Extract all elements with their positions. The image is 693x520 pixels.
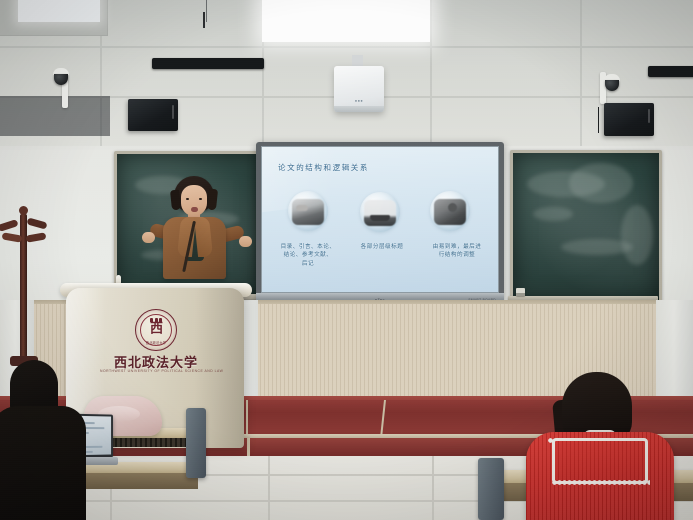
track-light-wire-left (206, 0, 207, 22)
student-right-red-sweater (506, 372, 676, 520)
student-right-lace-yoke (552, 438, 648, 484)
slide-screen: 论文的结构和逻辑关系 目录、引言、本论、 结论、参考文献、 后记 各部分层级标题… (261, 146, 499, 293)
slide-caption-1: 目录、引言、本论、 结论、参考文献、 后记 (272, 243, 344, 268)
ac-unit-center: ●●● (334, 66, 384, 112)
chalkboard-eraser[interactable] (516, 288, 525, 296)
slide-caption-3: 由易到难，最后进 行结构的调整 (418, 243, 496, 260)
presenter-hand-left (142, 232, 155, 243)
crest-mark: 西 (150, 323, 162, 336)
smart-display[interactable]: 论文的结构和逻辑关系 目录、引言、本论、 结论、参考文献、 后记 各部分层级标题… (256, 142, 504, 310)
presenter-speaker (142, 176, 250, 298)
chair-right[interactable] (478, 458, 504, 520)
track-light-stem-left (203, 12, 205, 28)
student-left-laptop (0, 360, 82, 520)
classroom-photo: ●●● 论文的结构和逻辑关系 (0, 0, 693, 520)
ceiling-light-left (18, 0, 100, 22)
ac-unit-brand: ●●● (355, 98, 363, 103)
university-crest-icon: 西 西北政法大学 (135, 309, 177, 351)
speaker-left (128, 99, 178, 131)
student-right-lace-trim-bottom (552, 480, 650, 485)
presenter-coat (163, 217, 226, 279)
coat-stand (2, 196, 46, 380)
slide-bubbles (262, 191, 498, 237)
student-right-lace-trim-left (548, 438, 553, 484)
presenter-hand-right (239, 236, 252, 247)
ceiling-light-right (262, 0, 430, 42)
presenter-face (181, 185, 207, 216)
chalkboard-right (510, 150, 662, 304)
track-light-left (152, 58, 264, 69)
chair-left-back[interactable] (186, 408, 206, 478)
photo-bubble-2 (360, 192, 400, 232)
photo-bubble-1 (288, 191, 328, 231)
student-left-body (0, 406, 86, 520)
crest-sub: 西北政法大学 (146, 340, 166, 345)
slide-captions: 目录、引言、本论、 结论、参考文献、 后记 各部分层级标题 由易到难，最后进 行… (262, 243, 498, 289)
track-light-right (648, 66, 693, 77)
slide-caption-2: 各部分层级标题 (346, 243, 418, 251)
podium-university-subtitle: NORTHWEST UNIVERSITY OF POLITICAL SCIENC… (100, 369, 212, 373)
photo-bubble-3 (430, 191, 470, 231)
speaker-right (604, 103, 654, 136)
slide-title: 论文的结构和逻辑关系 (278, 162, 369, 173)
